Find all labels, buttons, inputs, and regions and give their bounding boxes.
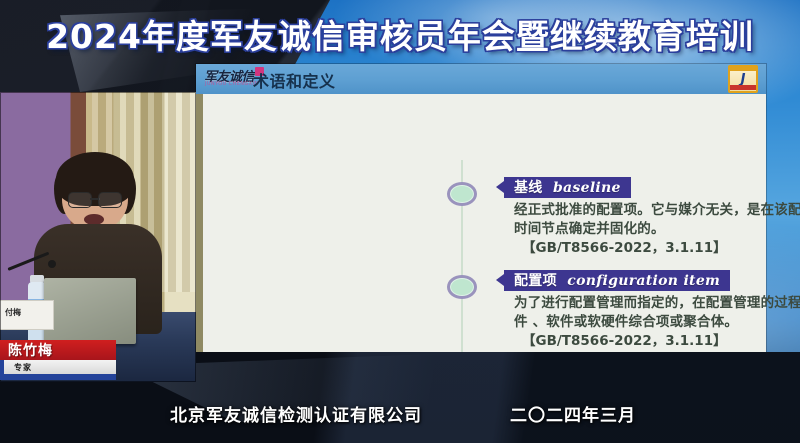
speaker-nameplate: 陈竹梅 专家 [0,340,116,380]
term-definition-1: 经正式批准的配置项。它与媒介无关，是在该配置项的生存周期中的特定时间节点确定并固… [514,202,800,237]
page-title: 2024年度军友诚信审核员年会暨继续教育培训 [0,14,800,60]
title-band: 2024年度军友诚信审核员年会暨继续教育培训 [0,14,800,60]
term-banner-2: 配置项 configuration item [504,270,730,291]
timeline-node-2 [447,275,477,299]
slide-header: 军友诚信 JUNYOU CHENGXIN 术语和定义 J [196,64,766,94]
footer: 北京军友诚信检测认证有限公司 二〇二四年三月 [0,396,800,430]
speaker-glasses [68,192,122,206]
term-banner-text-1: 基线 baseline [514,180,621,196]
slide-left-accent-bar [196,94,203,386]
speaker-role-bar: 专家 [0,360,116,374]
term-definition-2: 为了进行配置管理而指定的，在配置管理的过程中作为单个实体对待的硬件 、软件或软硬… [514,295,800,330]
certification-badge-icon: J [728,65,758,93]
speaker-name: 陈竹梅 [8,340,53,360]
badge-top-stripe [730,67,756,71]
microphone-head-icon [48,260,56,268]
badge-letter: J [741,73,746,86]
speaker-role: 专家 [14,362,32,373]
desk-placard: 付梅 [0,300,54,330]
timeline-node-1 [447,182,477,206]
speaker-video-panel[interactable]: 付梅 [0,92,196,382]
term-banner-text-2: 配置项 configuration item [514,273,720,289]
term-block-2: 配置项 configuration item 为了进行配置管理而指定的，在配置管… [496,270,800,351]
term-reference-2: 【GB/T8566-2022，3.1.11】 [514,332,800,351]
speaker-name-bar: 陈竹梅 [0,340,116,360]
term-body-2: 为了进行配置管理而指定的，在配置管理的过程中作为单个实体对待的硬件 、软件或软硬… [496,294,800,351]
term-block-1: 基线 baseline 经正式批准的配置项。它与媒介无关，是在该配置项的生存周期… [496,177,800,258]
company-logo-en: JUNYOU CHENGXIN [205,81,259,87]
footer-organization: 北京军友诚信检测认证有限公司 [170,401,422,426]
desk-placard-text: 付梅 [5,307,21,318]
nameplate-footer-bar [0,374,116,380]
badge-bottom-stripe [730,85,756,90]
slide-surface: 军友诚信 JUNYOU CHENGXIN 术语和定义 J 基线 baseline… [196,64,766,386]
term-reference-1: 【GB/T8566-2022，3.1.11】 [514,239,800,258]
footer-date: 二〇二四年三月 [510,401,636,426]
laptop [44,278,136,344]
screen-root: 2024年度军友诚信审核员年会暨继续教育培训 军友诚信 JUNYOU CHENG… [0,0,800,443]
slide-section-title: 术语和定义 [253,68,336,92]
term-body-1: 经正式批准的配置项。它与媒介无关，是在该配置项的生存周期中的特定时间节点确定并固… [496,201,800,258]
term-banner-1: 基线 baseline [504,177,631,198]
